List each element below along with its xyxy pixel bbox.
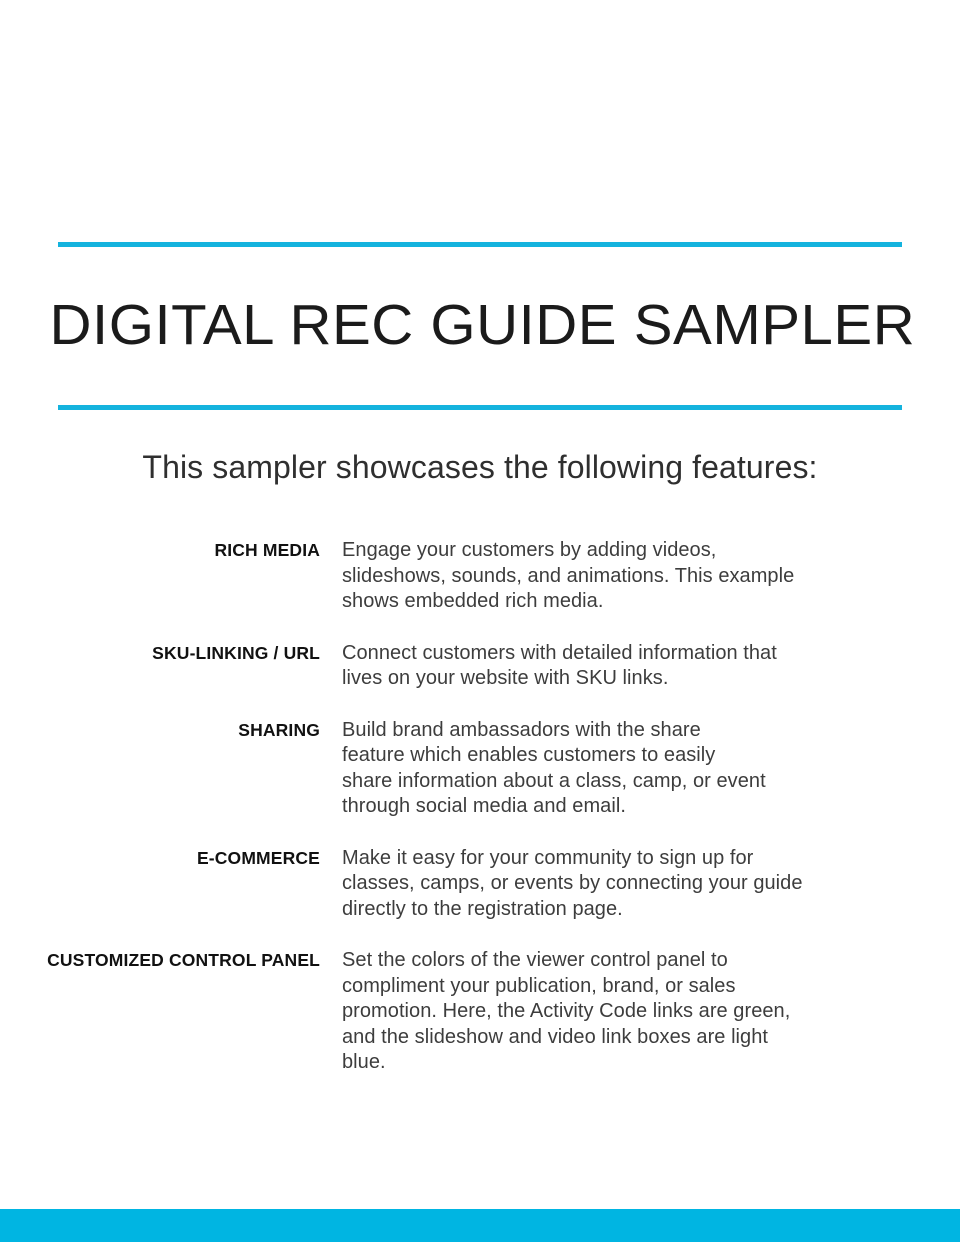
feature-label-rich-media: RICH MEDIA xyxy=(0,538,320,564)
feature-label-e-commerce: E-COMMERCE xyxy=(0,846,320,872)
page-subtitle: This sampler showcases the following fea… xyxy=(0,448,960,486)
feature-desc-line: blue. xyxy=(342,1050,902,1076)
feature-desc-sku-linking: Connect customers with detailed informat… xyxy=(320,641,960,692)
feature-desc-rich-media: Engage your customers by adding videos, … xyxy=(320,538,960,615)
feature-label-line: PANEL xyxy=(261,950,320,970)
feature-desc-line: compliment your publication, brand, or s… xyxy=(342,974,902,1000)
feature-label-sharing: SHARING xyxy=(0,718,320,744)
feature-label-sku-linking: SKU-LINKING / URL xyxy=(0,641,320,667)
feature-label-customized-control-panel: CUSTOMIZED CONTROL PANEL xyxy=(0,948,320,974)
document-page: DIGITAL REC GUIDE SAMPLER This sampler s… xyxy=(0,0,960,1242)
feature-desc-line: Build brand ambassadors with the share xyxy=(342,718,902,744)
feature-desc-customized-control-panel: Set the colors of the viewer control pan… xyxy=(320,948,960,1076)
feature-row-sku-linking: SKU-LINKING / URL Connect customers with… xyxy=(0,641,960,692)
feature-row-e-commerce: E-COMMERCE Make it easy for your communi… xyxy=(0,846,960,923)
feature-desc-line: promotion. Here, the Activity Code links… xyxy=(342,999,902,1025)
accent-rule-bottom xyxy=(58,405,902,410)
feature-desc-line: Make it easy for your community to sign … xyxy=(342,846,902,872)
feature-label-line: CUSTOMIZED CONTROL xyxy=(47,950,256,970)
feature-row-sharing: SHARING Build brand ambassadors with the… xyxy=(0,718,960,820)
feature-row-rich-media: RICH MEDIA Engage your customers by addi… xyxy=(0,538,960,615)
feature-desc-sharing: Build brand ambassadors with the share f… xyxy=(320,718,960,820)
feature-desc-line: directly to the registration page. xyxy=(342,897,902,923)
feature-desc-line: Engage your customers by adding videos, xyxy=(342,538,902,564)
feature-desc-line: slideshows, sounds, and animations. This… xyxy=(342,564,902,590)
bottom-accent-bar xyxy=(0,1209,960,1242)
feature-desc-line: classes, camps, or events by connecting … xyxy=(342,871,902,897)
feature-desc-line: share information about a class, camp, o… xyxy=(342,769,902,795)
page-title: DIGITAL REC GUIDE SAMPLER xyxy=(50,247,911,405)
feature-desc-line: Connect customers with detailed informat… xyxy=(342,641,902,667)
feature-desc-line: lives on your website with SKU links. xyxy=(342,666,902,692)
feature-desc-line: feature which enables customers to easil… xyxy=(342,743,902,769)
feature-desc-line: and the slideshow and video link boxes a… xyxy=(342,1025,902,1051)
feature-list: RICH MEDIA Engage your customers by addi… xyxy=(0,538,960,1076)
feature-desc-line: through social media and email. xyxy=(342,794,902,820)
feature-desc-line: Set the colors of the viewer control pan… xyxy=(342,948,902,974)
title-block: DIGITAL REC GUIDE SAMPLER xyxy=(58,242,902,410)
feature-desc-line: shows embedded rich media. xyxy=(342,589,902,615)
feature-row-customized-control-panel: CUSTOMIZED CONTROL PANEL Set the colors … xyxy=(0,948,960,1076)
feature-desc-e-commerce: Make it easy for your community to sign … xyxy=(320,846,960,923)
